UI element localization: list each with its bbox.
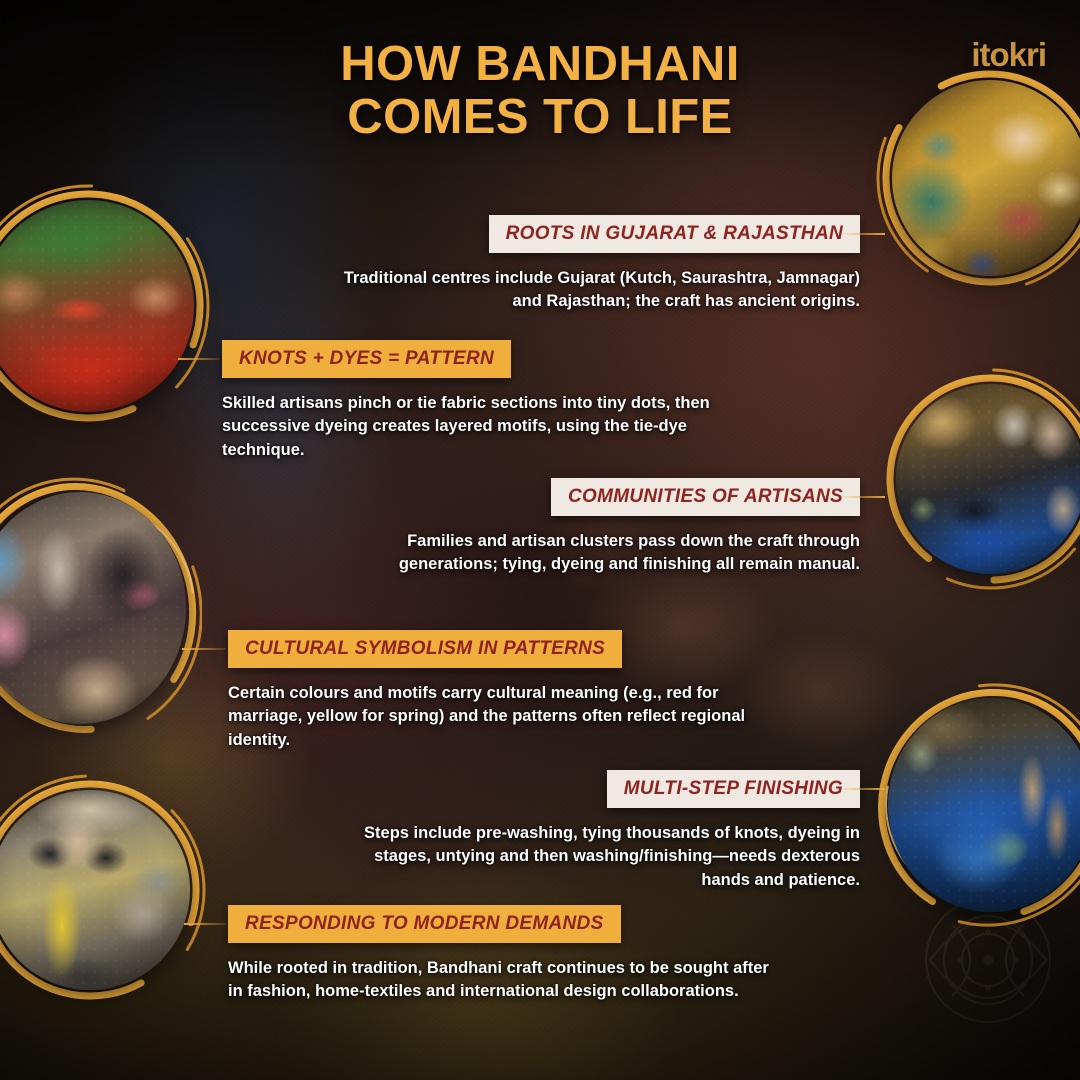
section-badge[interactable]: ROOTS IN GUJARAT & RAJASTHAN xyxy=(489,215,860,253)
brand-logo[interactable]: itokri xyxy=(971,38,1046,71)
infographic-canvas: HOW BANDHANI COMES TO LIFE itokri ROOTS … xyxy=(0,0,1080,1080)
section-roots-in-gujarat-rajasthan: ROOTS IN GUJARAT & RAJASTHAN Traditional… xyxy=(300,215,860,314)
section-cultural-symbolism-in-patterns: CULTURAL SYMBOLISM IN PATTERNS Certain c… xyxy=(228,630,788,752)
connector-line-3 xyxy=(843,496,885,498)
section-multi-step-finishing: MULTI-STEP FINISHING Steps include pre-w… xyxy=(300,770,860,892)
connector-line-5 xyxy=(843,788,885,790)
section-communities-of-artisans: COMMUNITIES OF ARTISANS Families and art… xyxy=(300,478,860,577)
connector-line-1 xyxy=(843,233,885,235)
page-title-line-2: COMES TO LIFE xyxy=(0,91,1080,144)
section-body-text: Families and artisan clusters pass down … xyxy=(320,530,860,577)
section-body-text: Steps include pre-washing, tying thousan… xyxy=(324,822,860,892)
section-badge[interactable]: COMMUNITIES OF ARTISANS xyxy=(551,478,860,516)
section-responding-to-modern-demands: RESPONDING TO MODERN DEMANDS While roote… xyxy=(228,905,788,1004)
section-badge[interactable]: KNOTS + DYES = PATTERN xyxy=(222,340,511,378)
section-knots-dyes-pattern: KNOTS + DYES = PATTERN Skilled artisans … xyxy=(222,340,782,462)
connector-line-2 xyxy=(178,358,220,360)
page-title: HOW BANDHANI COMES TO LIFE xyxy=(0,38,1080,144)
section-badge[interactable]: MULTI-STEP FINISHING xyxy=(607,770,860,808)
connector-line-4 xyxy=(182,648,226,650)
page-title-line-1: HOW BANDHANI xyxy=(0,38,1080,91)
sections-list: ROOTS IN GUJARAT & RAJASTHAN Traditional… xyxy=(0,0,1080,1080)
section-body-text: Certain colours and motifs carry cultura… xyxy=(228,682,773,752)
section-badge[interactable]: RESPONDING TO MODERN DEMANDS xyxy=(228,905,621,943)
section-body-text: Traditional centres include Gujarat (Kut… xyxy=(340,267,860,314)
connector-line-6 xyxy=(184,923,226,925)
section-badge[interactable]: CULTURAL SYMBOLISM IN PATTERNS xyxy=(228,630,622,668)
section-body-text: Skilled artisans pinch or tie fabric sec… xyxy=(222,392,762,462)
header: HOW BANDHANI COMES TO LIFE itokri xyxy=(0,0,1080,160)
section-body-text: While rooted in tradition, Bandhani craf… xyxy=(228,957,776,1004)
